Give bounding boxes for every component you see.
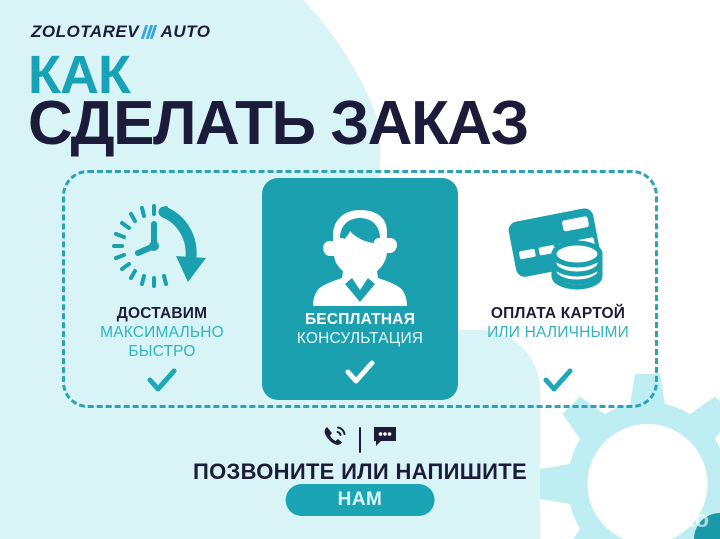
benefit-title: ОПЛАТА КАРТОЙ <box>491 304 625 323</box>
cta-headline: ПОЗВОНИТЕ ИЛИ НАПИШИТЕ <box>0 459 720 485</box>
check-icon <box>147 368 177 394</box>
clock-arrow-icon <box>108 192 216 304</box>
benefit-card-consultation[interactable]: БЕСПЛАТНАЯ КОНСУЛЬТАЦИЯ <box>262 178 458 400</box>
chat-bubble-icon[interactable] <box>372 425 398 454</box>
benefit-subtitle-line1: КОНСУЛЬТАЦИЯ <box>297 329 423 348</box>
benefit-subtitle-line1: МАКСИМАЛЬНО <box>100 323 224 342</box>
brand-name-left: ZOLOTAREV <box>31 22 139 42</box>
diagonal-stripes-icon <box>143 25 157 39</box>
brand-logo: ZOLOTAREV AUTO <box>31 22 210 42</box>
avito-wordmark: Avito <box>652 508 709 531</box>
poster-canvas: ZOLOTAREV AUTO КАК СДЕЛАТЬ ЗАКАЗ <box>0 0 720 539</box>
avito-dots-icon <box>624 508 647 531</box>
headset-operator-icon <box>308 198 412 310</box>
phone-ringing-icon[interactable] <box>322 424 348 455</box>
credit-card-coins-icon <box>502 192 614 304</box>
brand-name-right: AUTO <box>161 22 211 42</box>
avito-watermark: Avito <box>624 508 709 531</box>
check-icon <box>345 360 375 386</box>
benefit-title: БЕСПЛАТНАЯ <box>305 310 415 329</box>
page-title: СДЕЛАТЬ ЗАКАЗ <box>28 93 528 155</box>
benefit-subtitle-line2: БЫСТРО <box>128 342 195 361</box>
contact-us-button[interactable]: НАМ <box>286 484 435 516</box>
benefit-card-payment[interactable]: ОПЛАТА КАРТОЙ ИЛИ НАЛИЧНЫМИ <box>458 170 658 408</box>
benefit-title: ДОСТАВИМ <box>117 304 207 323</box>
cta-divider <box>359 427 361 453</box>
benefit-subtitle-line1: ИЛИ НАЛИЧНЫМИ <box>487 323 629 342</box>
benefits-card-list: ДОСТАВИМ МАКСИМАЛЬНО БЫСТРО <box>62 170 658 408</box>
benefit-card-delivery[interactable]: ДОСТАВИМ МАКСИМАЛЬНО БЫСТРО <box>62 170 262 408</box>
cta-icon-row <box>0 424 720 455</box>
check-icon <box>543 368 573 394</box>
